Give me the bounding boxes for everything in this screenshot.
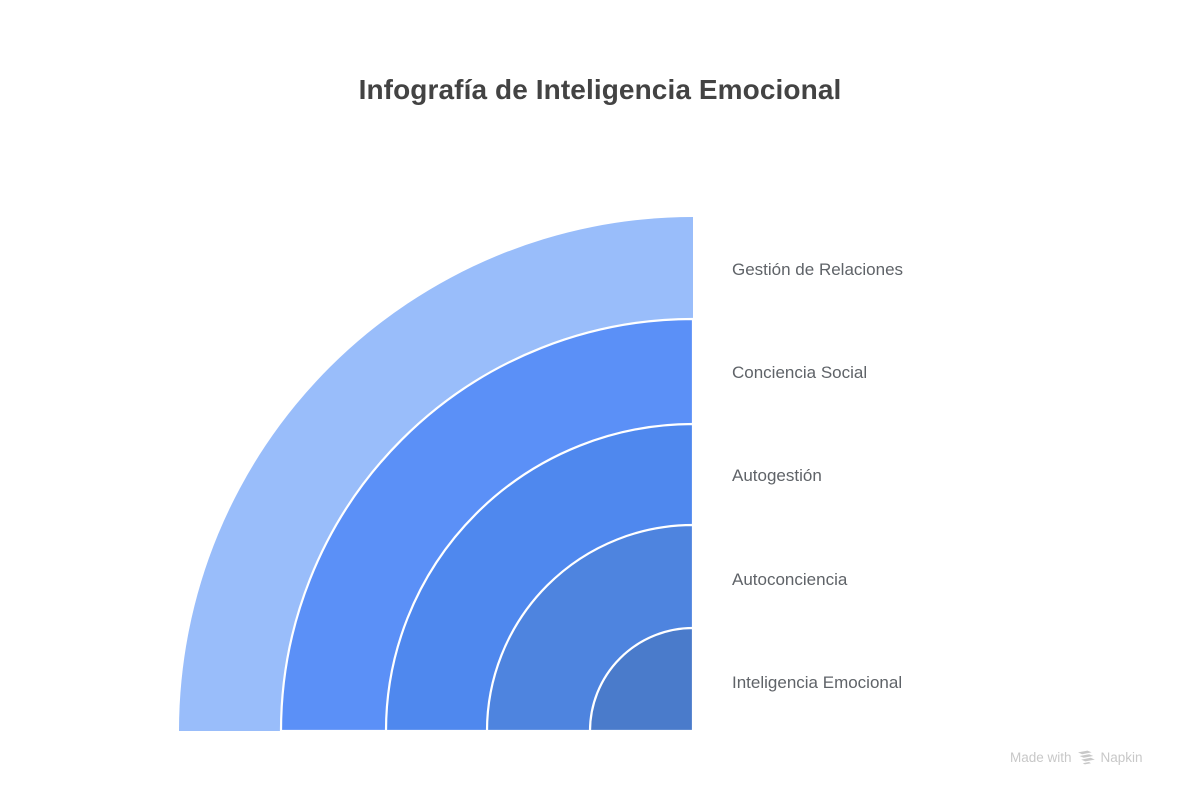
ring-label-autogestion[interactable]: Autogestión <box>732 467 822 484</box>
arc-svg <box>160 200 720 745</box>
ring-label-gestion-de-relaciones[interactable]: Gestión de Relaciones <box>732 261 903 278</box>
arc-ring-group <box>179 217 693 731</box>
infographic-canvas: Infografía de Inteligencia Emocional Ges… <box>0 0 1200 800</box>
watermark-prefix-label: Made with <box>1010 751 1072 765</box>
ring-label-list: Gestión de Relaciones Conciencia Social … <box>732 200 1152 740</box>
napkin-watermark[interactable]: Made with Napkin <box>1010 750 1143 765</box>
watermark-brand-label: Napkin <box>1101 751 1143 765</box>
concentric-arc-diagram <box>160 200 720 750</box>
page-title: Infografía de Inteligencia Emocional <box>0 74 1200 106</box>
napkin-logo-icon <box>1078 750 1095 765</box>
ring-label-autoconciencia[interactable]: Autoconciencia <box>732 571 847 588</box>
ring-label-conciencia-social[interactable]: Conciencia Social <box>732 364 867 381</box>
ring-label-inteligencia-emocional[interactable]: Inteligencia Emocional <box>732 674 902 691</box>
